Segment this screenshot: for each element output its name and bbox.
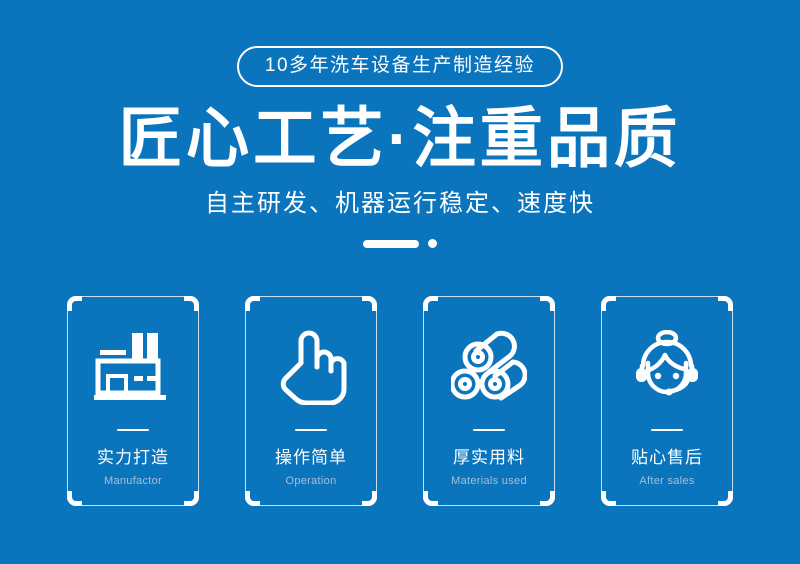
- corner-bracket-top-left: [245, 296, 260, 311]
- divider-bar: [363, 240, 419, 248]
- card-subtitle: Operation: [285, 475, 336, 487]
- card-separator: [117, 429, 149, 431]
- corner-bracket-bottom-left: [601, 491, 616, 506]
- corner-bracket-bottom-left: [67, 491, 82, 506]
- card-subtitle: After sales: [639, 475, 694, 487]
- corner-bracket-bottom-right: [184, 491, 199, 506]
- card-separator: [473, 429, 505, 431]
- feature-card-list: 实力打造 Manufactor: [0, 296, 800, 506]
- corner-bracket-top-left: [601, 296, 616, 311]
- corner-bracket-bottom-left: [423, 491, 438, 506]
- card-title: 实力打造: [97, 449, 169, 468]
- page-title: 匠心工艺·注重品质: [16, 103, 784, 174]
- decorative-divider: [0, 239, 800, 248]
- card-subtitle: Materials used: [451, 475, 527, 487]
- badge-container: 10多年洗车设备生产制造经验: [0, 46, 800, 87]
- feature-card-manufactor[interactable]: 实力打造 Manufactor: [67, 296, 199, 506]
- headset-support-agent-icon: [625, 325, 709, 409]
- card-title: 厚实用料: [453, 449, 525, 468]
- corner-bracket-top-right: [184, 296, 199, 311]
- banner-header: 10多年洗车设备生产制造经验 匠心工艺·注重品质 自主研发、机器运行稳定、速度快: [0, 0, 800, 248]
- pointing-hand-icon: [269, 325, 353, 409]
- page-subtitle: 自主研发、机器运行稳定、速度快: [0, 190, 800, 219]
- corner-bracket-bottom-right: [718, 491, 733, 506]
- corner-bracket-bottom-left: [245, 491, 260, 506]
- factory-icon: [91, 325, 175, 409]
- corner-bracket-top-left: [423, 296, 438, 311]
- promo-banner: 10多年洗车设备生产制造经验 匠心工艺·注重品质 自主研发、机器运行稳定、速度快: [0, 0, 800, 564]
- corner-bracket-bottom-right: [362, 491, 377, 506]
- card-separator: [651, 429, 683, 431]
- card-title: 贴心售后: [631, 449, 703, 468]
- divider-dot: [428, 239, 437, 248]
- experience-badge: 10多年洗车设备生产制造经验: [237, 46, 563, 87]
- feature-card-operation[interactable]: 操作简单 Operation: [245, 296, 377, 506]
- card-subtitle: Manufactor: [104, 475, 162, 487]
- card-separator: [295, 429, 327, 431]
- corner-bracket-top-right: [540, 296, 555, 311]
- corner-bracket-top-left: [67, 296, 82, 311]
- stacked-pipes-icon: [447, 325, 531, 409]
- feature-card-materials[interactable]: 厚实用料 Materials used: [423, 296, 555, 506]
- feature-card-after-sales[interactable]: 贴心售后 After sales: [601, 296, 733, 506]
- card-title: 操作简单: [275, 449, 347, 468]
- corner-bracket-bottom-right: [540, 491, 555, 506]
- corner-bracket-top-right: [362, 296, 377, 311]
- corner-bracket-top-right: [718, 296, 733, 311]
